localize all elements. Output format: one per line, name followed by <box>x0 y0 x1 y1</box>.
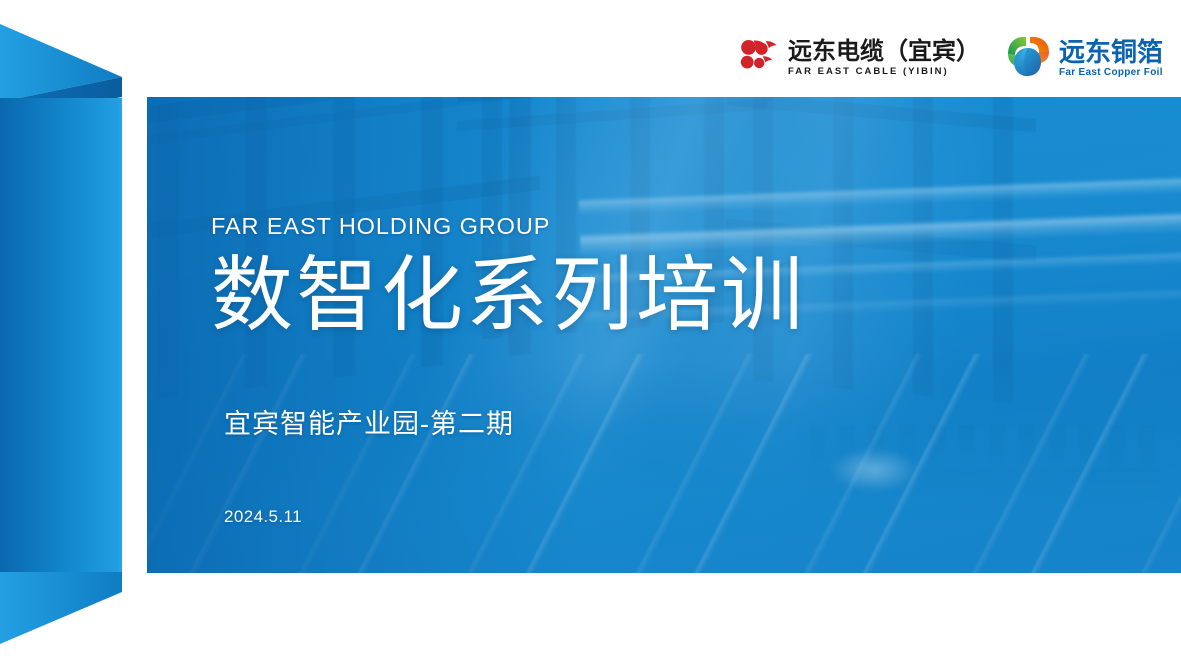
subtitle-text: 宜宾智能产业园-第二期 <box>224 402 514 441</box>
eyebrow-text: FAR EAST HOLDING GROUP <box>211 213 550 240</box>
date-text: 2024.5.11 <box>224 507 302 527</box>
logo-far-east-cable-yibin: 远东电缆（宜宾） FAR EAST CABLE (YIBIN) <box>739 39 980 78</box>
logo-far-east-copper-foil: 远东铜箔 Far East Copper Foil <box>1006 34 1163 83</box>
folded-ribbon-banner <box>0 24 146 644</box>
three-petal-cluster-icon <box>739 39 781 78</box>
logo-cable-text: 远东电缆（宜宾） FAR EAST CABLE (YIBIN) <box>788 40 980 77</box>
logo-foil-en: Far East Copper Foil <box>1059 68 1163 78</box>
slide-cover: FAR EAST HOLDING GROUP 数智化系列培训 宜宾智能产业园-第… <box>0 0 1181 665</box>
logo-bar: 远东电缆（宜宾） FAR EAST CABLE (YIBIN) <box>739 30 1163 86</box>
logo-foil-cn: 远东铜箔 <box>1059 39 1163 65</box>
four-petal-pinwheel-icon <box>1006 34 1052 83</box>
logo-cable-cn: 远东电缆（宜宾） <box>788 40 980 64</box>
logo-foil-text: 远东铜箔 Far East Copper Foil <box>1059 39 1163 78</box>
logo-cable-en: FAR EAST CABLE (YIBIN) <box>788 67 980 77</box>
page-title: 数智化系列培训 <box>211 252 806 341</box>
